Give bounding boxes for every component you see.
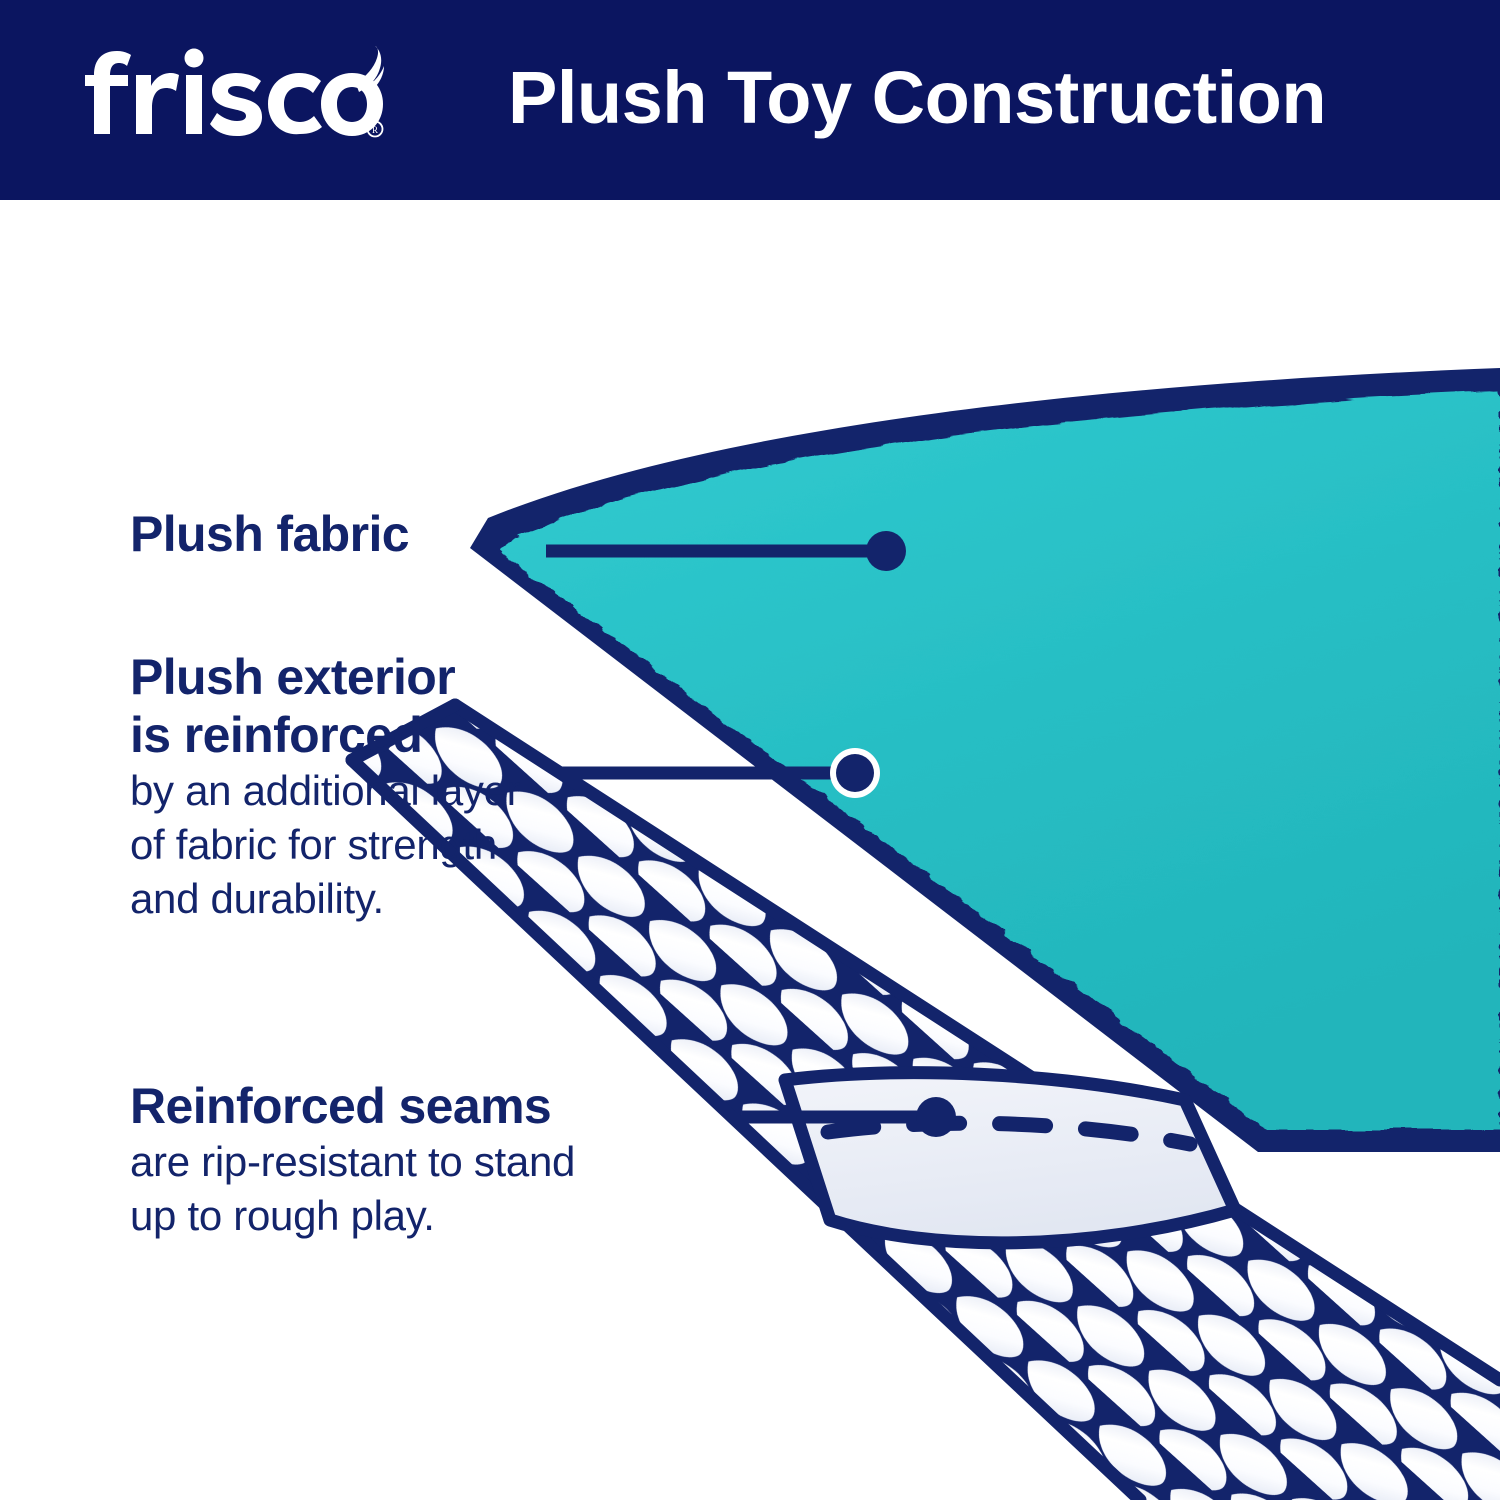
leader-dot-plush-exterior [836,754,874,792]
callout-plush-exterior-body-line-1: by an additional layer [130,764,520,818]
callout-plush-exterior-heading-line-2: is reinforced [130,706,520,764]
callout-plush-exterior-heading-line-1: Plush exterior [130,648,520,706]
callout-reinforced-seams: Reinforced seams are rip-resistant to st… [130,1077,575,1243]
callout-plush-fabric-heading: Plush fabric [130,505,409,563]
callout-plush-exterior: Plush exterior is reinforced by an addit… [130,648,520,926]
leader-dot-reinforced-seams [916,1097,956,1137]
plush-fabric-panel [470,368,1500,1152]
frisco-logo: R [84,46,384,142]
infographic-page: R Plush Toy Construction [0,0,1500,1500]
reinforced-seam-flap [785,1073,1235,1243]
seam-flap-shape [785,1073,1235,1243]
callout-plush-exterior-body-line-2: of fabric for strength [130,818,520,872]
svg-text:R: R [372,125,378,135]
callout-reinforced-seams-body-line-1: are rip-resistant to stand [130,1135,575,1189]
header-bar: R Plush Toy Construction [0,0,1500,200]
callout-plush-exterior-body-line-3: and durability. [130,872,520,926]
leader-dot-plush-fabric [866,531,906,571]
page-title: Plush Toy Construction [508,44,1408,152]
callout-plush-fabric: Plush fabric [130,505,409,563]
callout-reinforced-seams-heading: Reinforced seams [130,1077,575,1135]
callout-reinforced-seams-body-line-2: up to rough play. [130,1189,575,1243]
